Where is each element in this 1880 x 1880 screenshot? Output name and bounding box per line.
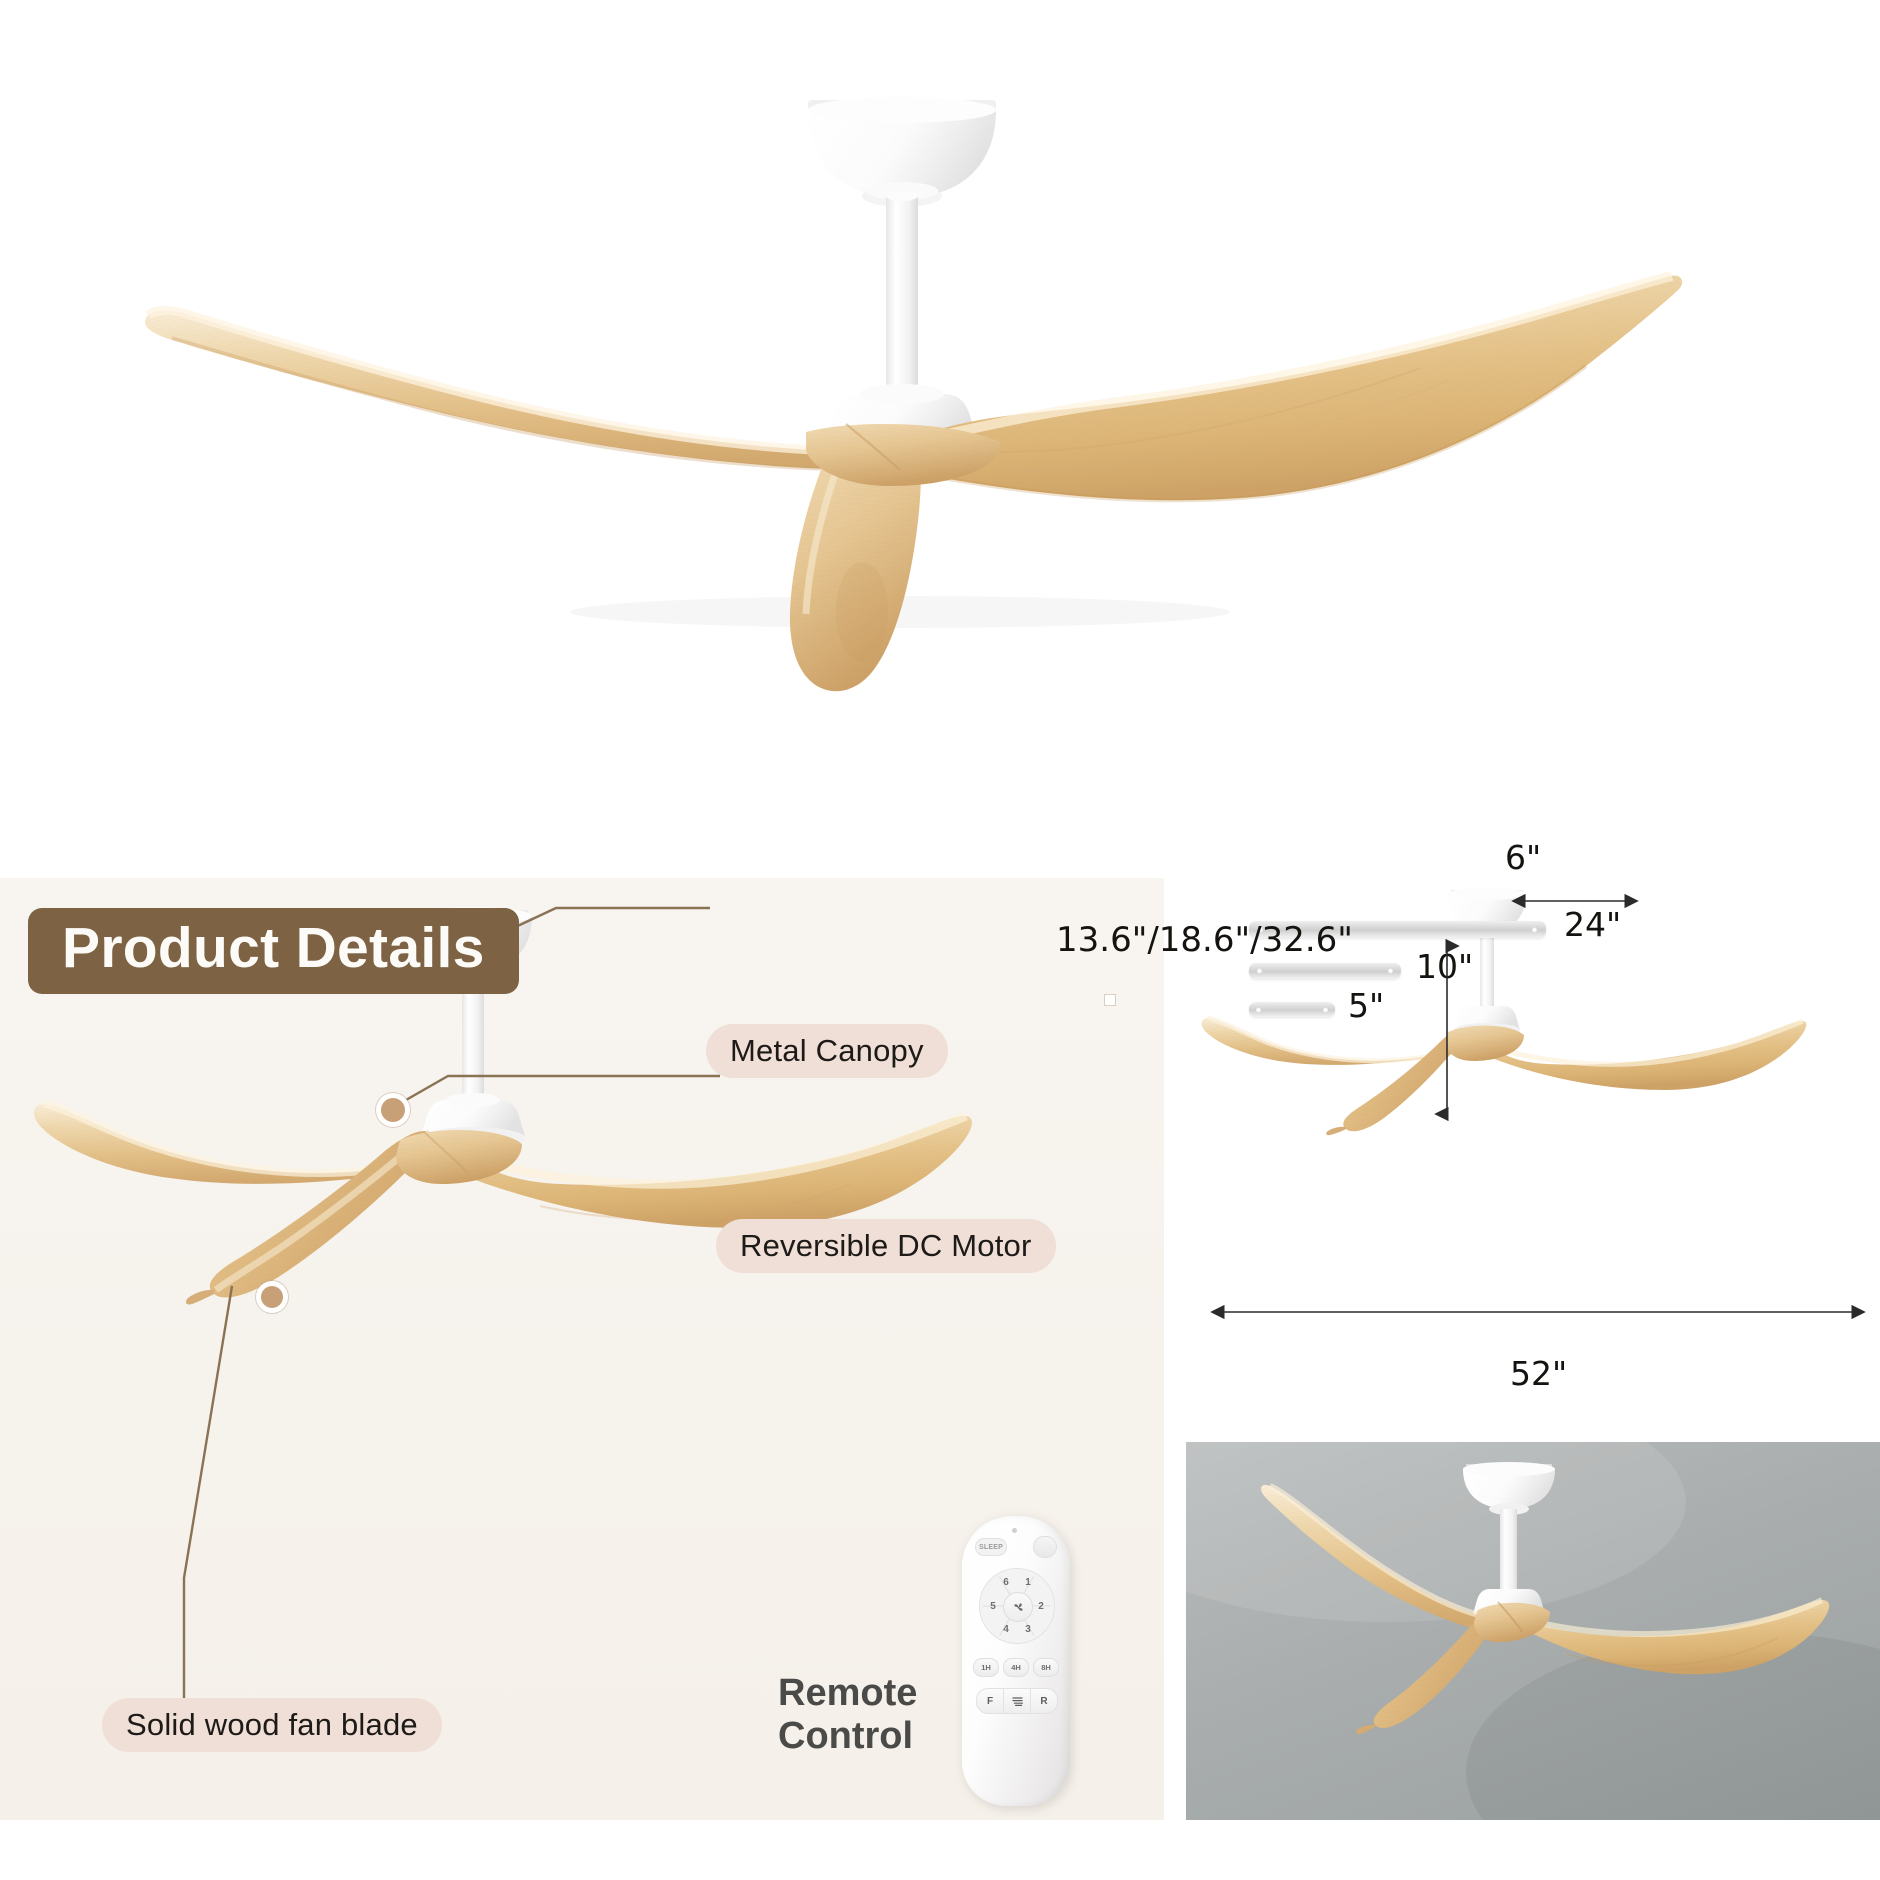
remote-power-button[interactable] (1033, 1536, 1057, 1558)
remote-ir-led (1012, 1528, 1017, 1533)
downrod-10in (1249, 963, 1401, 979)
remote-speed-dial[interactable]: 1 2 3 4 5 6 (979, 1568, 1055, 1644)
hero-blade-front (790, 452, 921, 691)
callout-reversible-dc-motor[interactable]: Reversible DC Motor (716, 1219, 1056, 1273)
blade-span-arrow (1218, 1300, 1858, 1324)
remote-control-title: Remote Control (778, 1672, 978, 1757)
speed-button-6[interactable]: 6 (1000, 1577, 1012, 1588)
remote-title-line2: Control (778, 1715, 978, 1758)
reverse-button[interactable]: R (1031, 1689, 1057, 1713)
hero-product-image (0, 0, 1880, 860)
downrod-5in (1249, 1002, 1335, 1017)
remote-control-device[interactable]: SLEEP 1 2 3 4 5 6 1H 4H 8H (962, 1516, 1070, 1806)
callout-solid-wood-fan-blade-label: Solid wood fan blade (126, 1707, 418, 1743)
callout-metal-canopy[interactable]: Metal Canopy (706, 1024, 948, 1078)
speed-button-5[interactable]: 5 (987, 1601, 999, 1612)
fan-height-label: 13.6"/18.6"/32.6" (1056, 920, 1353, 960)
breeze-icon (1011, 1696, 1024, 1707)
blade-span-label: 52" (1510, 1354, 1567, 1393)
canopy-width-arrow (1520, 890, 1640, 914)
fan-height-arrow (1435, 940, 1459, 1120)
speed-button-3[interactable]: 3 (1022, 1624, 1034, 1635)
callout-reversible-dc-motor-label: Reversible DC Motor (740, 1228, 1032, 1264)
timer-button-1h[interactable]: 1H (973, 1658, 999, 1677)
product-details-title-badge: Product Details (28, 908, 519, 994)
remote-sleep-button[interactable]: SLEEP (975, 1538, 1007, 1556)
callout-solid-wood-fan-blade[interactable]: Solid wood fan blade (102, 1698, 442, 1752)
breeze-mode-button[interactable] (1004, 1689, 1031, 1713)
speed-button-2[interactable]: 2 (1035, 1601, 1047, 1612)
hero-blade-left (145, 310, 884, 470)
speed-button-4[interactable]: 4 (1000, 1624, 1012, 1635)
dim-blade-right (1492, 1021, 1806, 1090)
callout-metal-canopy-label: Metal Canopy (730, 1033, 924, 1069)
hero-fan-illustration (0, 0, 1880, 860)
downrod-5in-label: 5" (1348, 986, 1384, 1025)
canopy-width-label: 6" (1505, 838, 1541, 877)
hotspot-dc-motor[interactable] (381, 1098, 405, 1122)
fan-icon (1011, 1600, 1026, 1615)
timer-button-8h[interactable]: 8H (1033, 1658, 1059, 1677)
remote-power-fan-button[interactable] (1003, 1592, 1033, 1622)
remote-title-line1: Remote (778, 1672, 978, 1715)
hotspot-wood-blade[interactable] (261, 1286, 283, 1308)
timer-button-4h[interactable]: 4H (1003, 1658, 1029, 1677)
page-title: Product Details (62, 920, 485, 977)
remote-sleep-label: SLEEP (979, 1544, 1003, 1551)
remote-function-row: F R (976, 1688, 1058, 1714)
speed-button-1[interactable]: 1 (1022, 1577, 1034, 1588)
hero-blade-right (900, 275, 1682, 500)
installed-fan-illustration (1186, 1442, 1880, 1820)
installed-photo-panel (1186, 1442, 1880, 1820)
remote-timer-row: 1H 4H 8H (973, 1658, 1059, 1677)
hero-canopy-group (808, 97, 996, 460)
forward-button[interactable]: F (977, 1689, 1004, 1713)
